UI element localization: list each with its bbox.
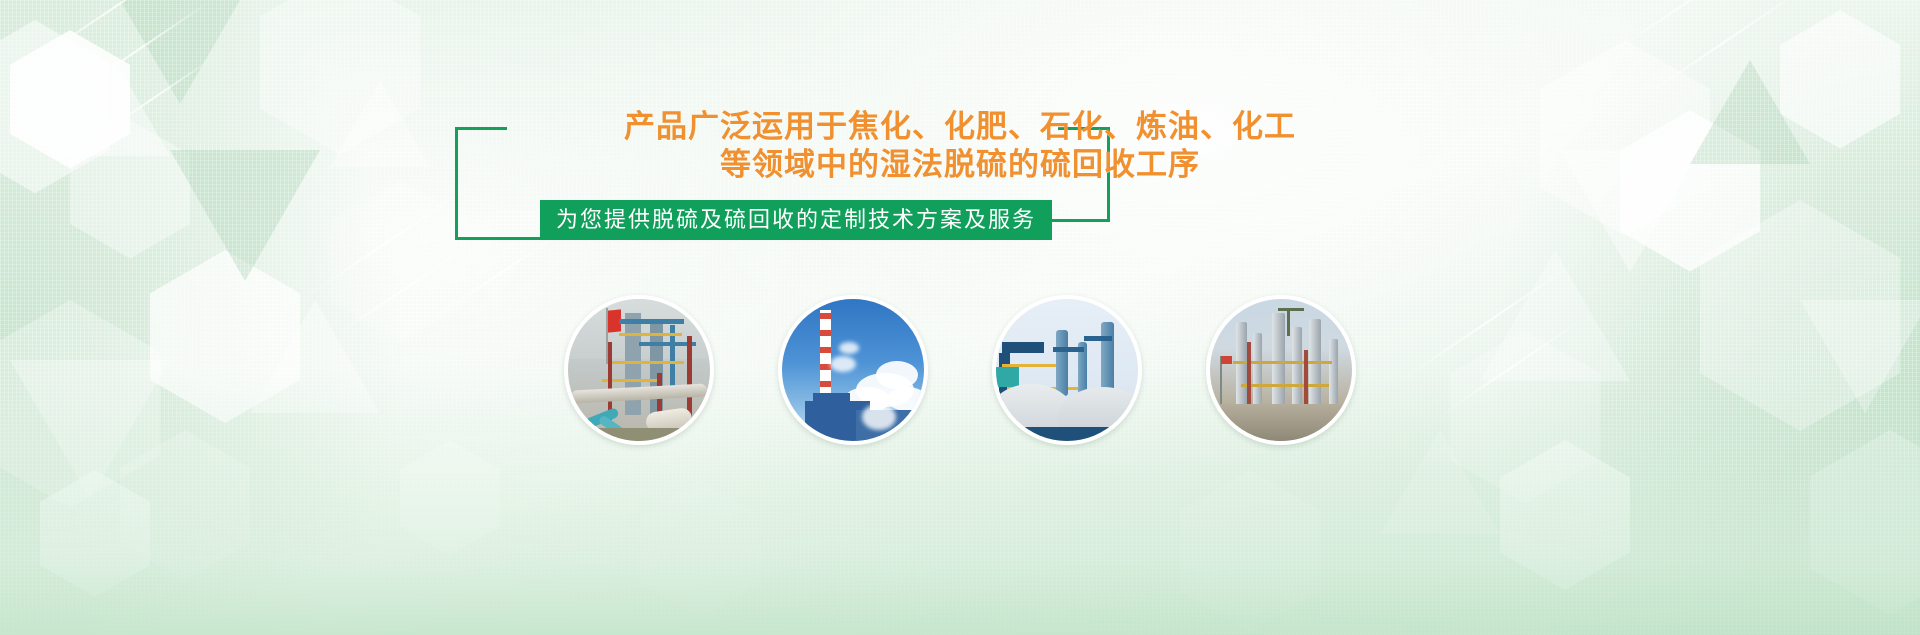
subtitle-bar: 为您提供脱硫及硫回收的定制技术方案及服务: [540, 200, 1052, 240]
hexagon-shape-10: [1810, 430, 1920, 615]
photo-desulfurization-piping-plant: [564, 295, 714, 445]
hexagon-shape-11: [640, 480, 760, 619]
hexagon-outline-7: [400, 440, 500, 555]
photo-row: [0, 295, 1920, 445]
headline: 产品广泛运用于焦化、化肥、石化、炼油、化工 等领域中的湿法脱硫的硫回收工序: [0, 108, 1920, 184]
photo-chimney-blue-sky-plant: [778, 295, 928, 445]
triangle-shape-11: [1380, 430, 1500, 534]
headline-line-1: 产品广泛运用于焦化、化肥、石化、炼油、化工: [624, 109, 1296, 144]
promo-banner: 产品广泛运用于焦化、化肥、石化、炼油、化工 等领域中的湿法脱硫的硫回收工序 为您…: [0, 0, 1920, 635]
headline-line-2: 等领域中的湿法脱硫的硫回收工序: [0, 146, 1920, 184]
photo-blue-vessels-platform: [992, 295, 1142, 445]
triangle-shape-12: [440, 210, 550, 306]
photo-refinery-columns: [1206, 295, 1356, 445]
triangle-shape-5: [120, 0, 240, 104]
hexagon-shape-12: [1180, 470, 1320, 632]
